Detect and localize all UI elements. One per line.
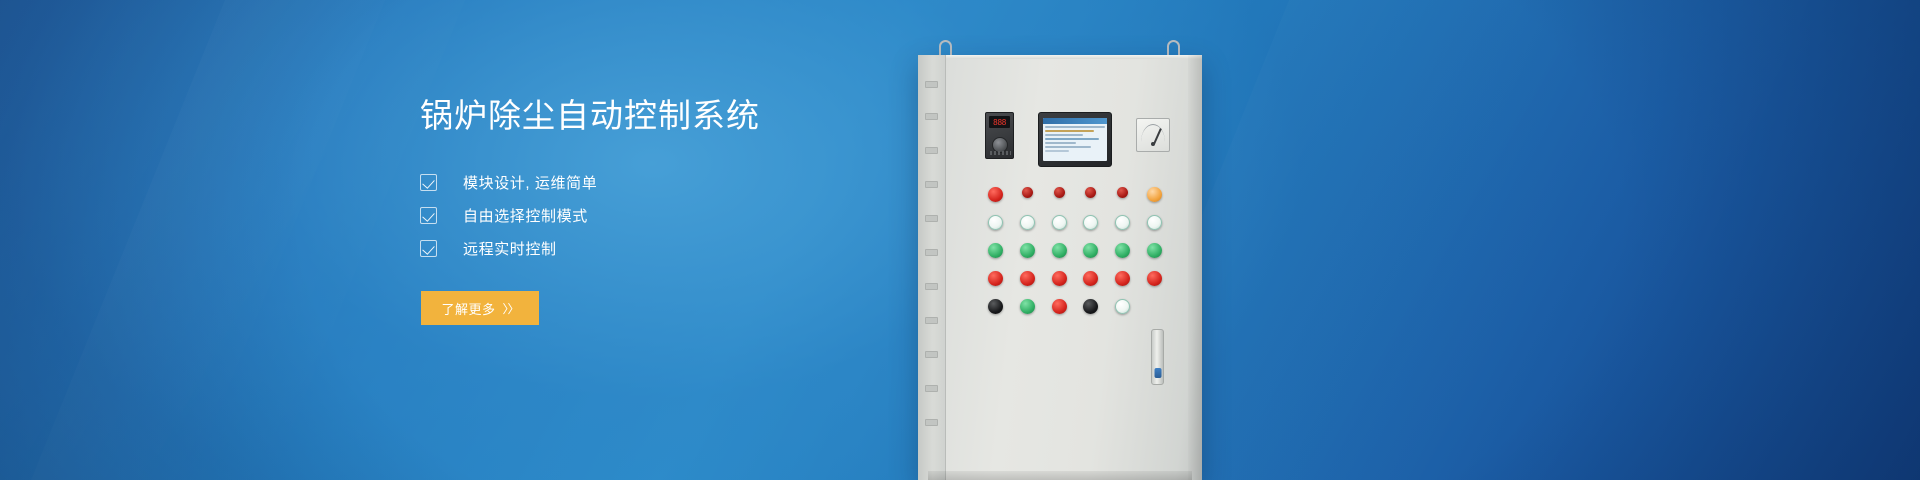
push-button[interactable] xyxy=(1083,215,1098,230)
push-button[interactable] xyxy=(988,215,1003,230)
feature-label: 远程实时控制 xyxy=(463,238,557,259)
analog-gauge xyxy=(1136,118,1170,152)
push-button[interactable] xyxy=(1083,243,1098,258)
page-title: 锅炉除尘自动控制系统 xyxy=(420,98,940,134)
drive-module: 888 xyxy=(985,112,1014,159)
push-button[interactable] xyxy=(1115,215,1130,230)
instrument-row: 888 xyxy=(985,112,1170,167)
push-button[interactable] xyxy=(988,299,1003,314)
push-button[interactable] xyxy=(1052,215,1067,230)
push-button[interactable] xyxy=(1115,271,1130,286)
push-button[interactable] xyxy=(1054,187,1065,198)
cabinet-body: 888 xyxy=(918,55,1202,480)
push-button[interactable] xyxy=(1052,271,1067,286)
control-cabinet-image: 888 xyxy=(915,40,1205,480)
cabinet-right-edge xyxy=(1188,55,1202,480)
cabinet-base xyxy=(928,471,1192,480)
feature-label: 自由选择控制模式 xyxy=(463,205,588,226)
background-streak xyxy=(0,0,409,480)
checkbox-icon xyxy=(420,207,437,224)
feature-list: 模块设计, 运维简单 自由选择控制模式 远程实时控制 xyxy=(420,166,940,265)
hinge-icon xyxy=(925,181,938,188)
push-button[interactable] xyxy=(988,271,1003,286)
hero-banner: 锅炉除尘自动控制系统 模块设计, 运维简单 自由选择控制模式 远程实时控制 了解… xyxy=(0,0,1920,480)
gauge-hub-icon xyxy=(1151,142,1155,146)
push-button[interactable] xyxy=(1020,215,1035,230)
push-button[interactable] xyxy=(988,187,1003,202)
push-button[interactable] xyxy=(1085,187,1096,198)
hinge-icon xyxy=(925,81,938,88)
push-button[interactable] xyxy=(1020,243,1035,258)
push-button[interactable] xyxy=(988,243,1003,258)
hinge-icon xyxy=(925,351,938,358)
drive-vents-icon xyxy=(990,151,1011,155)
feature-label: 模块设计, 运维简单 xyxy=(463,172,597,193)
push-button[interactable] xyxy=(1022,187,1033,198)
drive-display-value: 888 xyxy=(993,118,1006,127)
hinge-icon xyxy=(925,113,938,120)
push-button[interactable] xyxy=(1147,187,1162,202)
cabinet-door: 888 xyxy=(947,57,1188,480)
drive-display: 888 xyxy=(989,116,1010,128)
learn-more-label: 了解更多 xyxy=(441,299,495,318)
push-button[interactable] xyxy=(1115,299,1130,314)
push-button[interactable] xyxy=(1020,271,1035,286)
push-button[interactable] xyxy=(1083,271,1098,286)
push-button[interactable] xyxy=(1117,187,1128,198)
push-button-empty xyxy=(1147,299,1162,314)
checkbox-icon xyxy=(420,174,437,191)
learn-more-button[interactable]: 了解更多 〉〉 xyxy=(421,291,539,325)
push-button[interactable] xyxy=(1147,271,1162,286)
hinge-icon xyxy=(925,283,938,290)
hmi-screen[interactable] xyxy=(1043,118,1107,161)
hinge-icon xyxy=(925,419,938,426)
cabinet-hinge-strip xyxy=(918,55,946,480)
chevron-right-icon: 〉〉 xyxy=(503,300,519,317)
hinge-icon xyxy=(925,215,938,222)
push-button[interactable] xyxy=(1052,243,1067,258)
hmi-content-rows xyxy=(1043,124,1107,152)
checkbox-icon xyxy=(420,240,437,257)
push-button[interactable] xyxy=(1147,215,1162,230)
push-button-grid xyxy=(980,187,1170,314)
push-button[interactable] xyxy=(1083,299,1098,314)
hmi-panel[interactable] xyxy=(1038,112,1112,167)
lifting-eyelet-icon xyxy=(939,40,952,56)
push-button[interactable] xyxy=(1052,299,1067,314)
push-button[interactable] xyxy=(1020,299,1035,314)
hinge-icon xyxy=(925,385,938,392)
door-handle[interactable] xyxy=(1151,329,1164,385)
hinge-icon xyxy=(925,249,938,256)
push-button[interactable] xyxy=(1147,243,1162,258)
list-item: 模块设计, 运维简单 xyxy=(420,166,940,199)
hinge-icon xyxy=(925,317,938,324)
hinge-icon xyxy=(925,147,938,154)
lifting-eyelet-icon xyxy=(1167,40,1180,56)
push-button[interactable] xyxy=(1115,243,1130,258)
list-item: 远程实时控制 xyxy=(420,232,940,265)
banner-copy: 锅炉除尘自动控制系统 模块设计, 运维简单 自由选择控制模式 远程实时控制 了解… xyxy=(420,98,940,325)
list-item: 自由选择控制模式 xyxy=(420,199,940,232)
